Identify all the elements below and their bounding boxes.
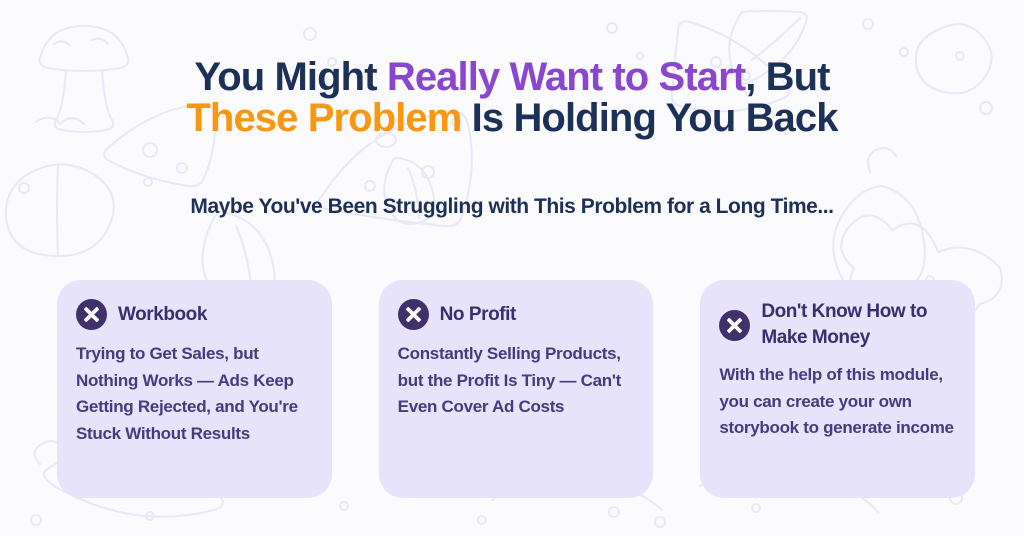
- headline-segment-navy-1: You Might: [194, 55, 386, 99]
- promo-section: You Might Really Want to Start, But Thes…: [0, 0, 1024, 537]
- x-circle-icon: [398, 299, 429, 330]
- card-title: Workbook: [118, 302, 207, 328]
- headline-segment-navy-3: Is Holding You Back: [461, 96, 837, 140]
- headline-segment-orange: These Problem: [186, 96, 461, 140]
- card-header: Workbook: [76, 299, 312, 330]
- headline-segment-purple: Really Want to Start: [387, 55, 745, 99]
- problem-card-list: Workbook Trying to Get Sales, but Nothin…: [57, 280, 975, 498]
- x-circle-icon: [76, 299, 107, 330]
- card-title: Don't Know How to Make Money: [761, 299, 955, 351]
- problem-card: Workbook Trying to Get Sales, but Nothin…: [57, 280, 332, 498]
- card-header: Don't Know How to Make Money: [719, 299, 955, 351]
- card-body-text: With the help of this module, you can cr…: [719, 362, 955, 442]
- headline-segment-navy-2: , But: [745, 55, 829, 99]
- card-body-text: Constantly Selling Products, but the Pro…: [398, 341, 634, 421]
- headline-line-2: These Problem Is Holding You Back: [0, 98, 1024, 139]
- page-subtitle: Maybe You've Been Struggling with This P…: [0, 194, 1024, 220]
- card-header: No Profit: [398, 299, 634, 330]
- problem-card: No Profit Constantly Selling Products, b…: [379, 280, 654, 498]
- headline-line-1: You Might Really Want to Start, But: [0, 57, 1024, 98]
- x-circle-icon: [719, 310, 750, 341]
- page-title: You Might Really Want to Start, But Thes…: [0, 57, 1024, 139]
- card-body-text: Trying to Get Sales, but Nothing Works —…: [76, 341, 312, 447]
- problem-card: Don't Know How to Make Money With the he…: [700, 280, 975, 498]
- eggplant-doodle: [833, 148, 925, 299]
- card-title: No Profit: [440, 302, 516, 328]
